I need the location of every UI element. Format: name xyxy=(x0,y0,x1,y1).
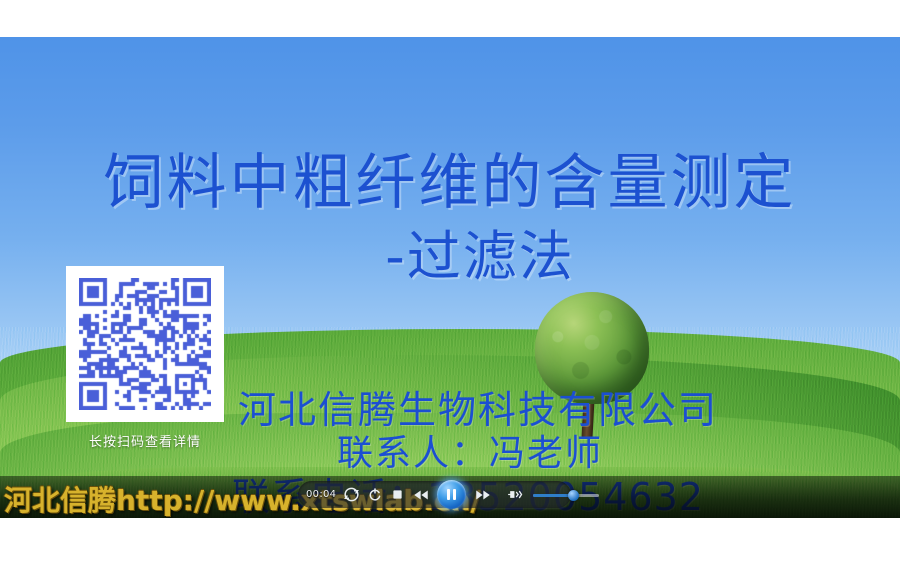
letterbox-bottom xyxy=(0,518,900,561)
rewind-icon[interactable] xyxy=(411,485,430,504)
elapsed-time-label: 00:04 xyxy=(306,489,336,500)
player-control-bar[interactable]: 00:04 xyxy=(298,481,571,508)
letterbox-top xyxy=(0,0,900,37)
company-contact-person: 联系人：冯老师 xyxy=(0,432,900,475)
volume-icon[interactable] xyxy=(506,485,525,504)
volume-fill xyxy=(533,494,573,497)
video-player-stage[interactable]: 饲料中粗纤维的含量测定 -过滤法 长按扫码查看详情 河北信腾生物科技有限公司 联… xyxy=(0,37,900,518)
refresh-icon[interactable] xyxy=(365,485,384,504)
slide-title: 饲料中粗纤维的含量测定 xyxy=(0,152,900,215)
pause-icon xyxy=(447,489,456,500)
volume-slider[interactable] xyxy=(533,488,599,502)
screenshot-root: 饲料中粗纤维的含量测定 -过滤法 长按扫码查看详情 河北信腾生物科技有限公司 联… xyxy=(0,0,900,561)
forward-icon[interactable] xyxy=(473,485,492,504)
stop-icon[interactable] xyxy=(388,485,407,504)
pause-button[interactable] xyxy=(437,480,466,509)
loop-icon[interactable] xyxy=(342,485,361,504)
volume-knob[interactable] xyxy=(568,490,579,501)
company-name: 河北信腾生物科技有限公司 xyxy=(0,389,900,432)
